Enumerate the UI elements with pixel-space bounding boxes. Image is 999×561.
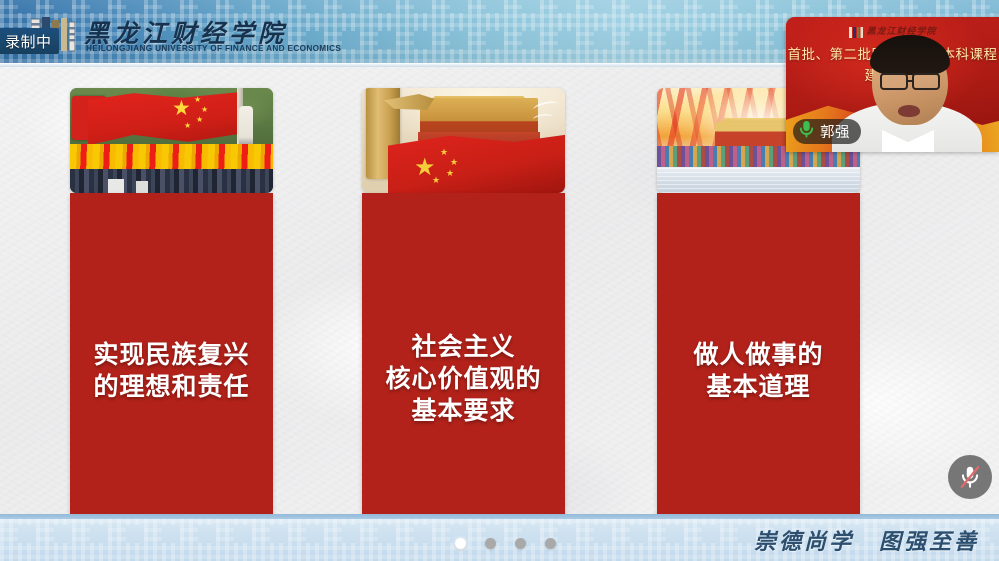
card-1-image: ★ ★ ★ ★ ★ [70,88,273,193]
card-1-title: 实现民族复兴 的理想和责任 [87,339,255,403]
speaker-name: 郭强 [820,121,850,142]
recording-badge: 录制中 [0,28,59,54]
speaker-video-overlay[interactable]: 黑龙江财经学院 首批、第二批国家级一流本科课程 建设工作 郭强 [786,17,999,152]
content-card-1[interactable]: ★ ★ ★ ★ ★ 实现民族复兴 的理想和责任 [70,88,273,548]
content-card-3[interactable]: 做人做事的 基本道理 [657,88,860,548]
recording-badge-label: 录制中 [5,31,52,52]
pagination-dots[interactable] [455,538,556,549]
university-name-en: HEILONGJIANG UNIVERSITY OF FINANCE AND E… [86,44,341,53]
card-3-panel: 做人做事的 基本道理 [657,193,860,548]
school-motto: 崇德尚学 图强至善 [754,524,979,556]
speaker-name-badge: 郭强 [793,119,861,144]
card-3-title: 做人做事的 基本道理 [687,339,829,403]
footer-divider [0,514,999,519]
pagination-dot-3[interactable] [515,538,526,549]
microphone-icon [799,120,814,143]
card-2-image: ★ ★ ★ ★ ★ [362,88,565,193]
microphone-muted-icon[interactable] [948,455,992,499]
card-2-title: 社会主义 核心价值观的 基本要求 [379,331,547,427]
card-1-panel: 实现民族复兴 的理想和责任 [70,193,273,548]
content-card-2[interactable]: ★ ★ ★ ★ ★ 社会主义 核心价值观的 基本要求 [362,88,565,561]
screen-root: 黑龙江财经学院 HEILONGJIANG UNIVERSITY OF FINAN… [0,0,999,561]
pagination-dot-1[interactable] [455,538,466,549]
pagination-dot-4[interactable] [545,538,556,549]
pagination-dot-2[interactable] [485,538,496,549]
card-2-panel: 社会主义 核心价值观的 基本要求 [362,193,565,561]
